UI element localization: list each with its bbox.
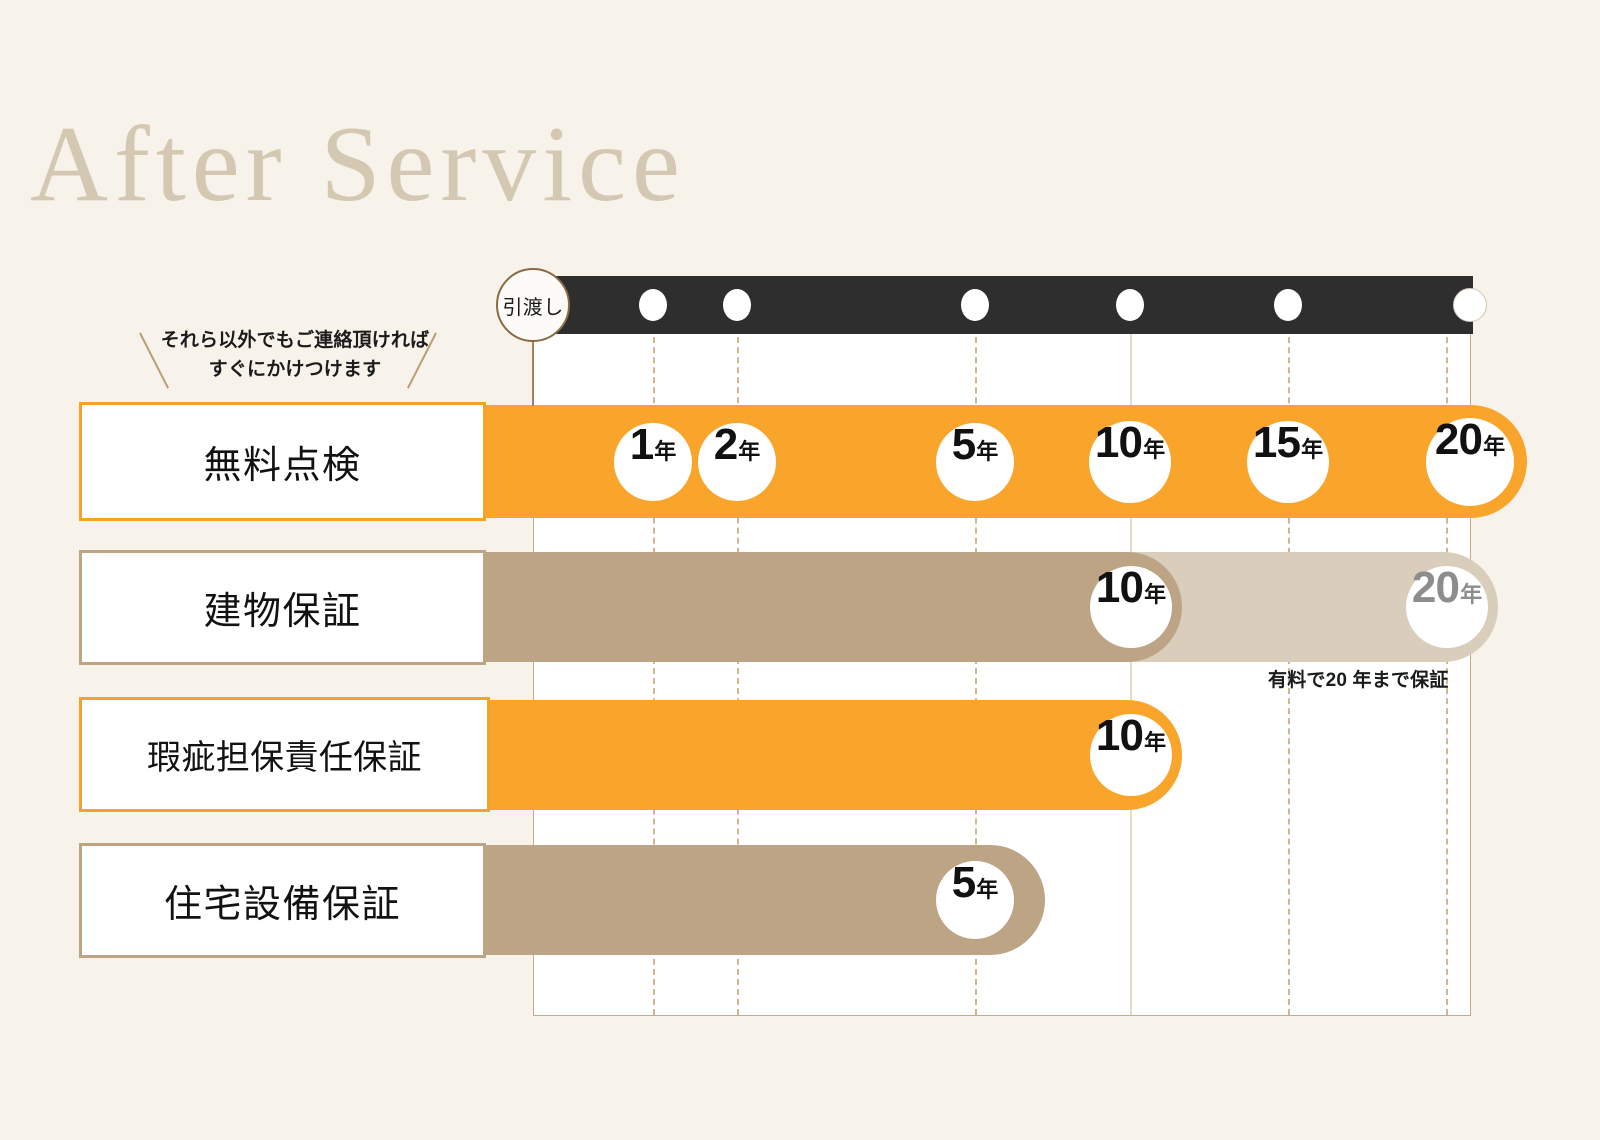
badge-15y: 15 年 [1247,421,1329,503]
badge-number: 20 [1412,566,1459,610]
badge-1y: 1 年 [614,423,692,501]
row-label-free-inspection: 無料点検 [79,402,486,521]
badge-number: 10 [1096,714,1143,758]
after-service-infographic: After Service 引渡し それら以外でもご連絡頂ければ すぐにかけつけ… [0,0,1600,1140]
row-label-text: 建物保証 [203,580,361,635]
timeline-dot-15y [1274,289,1302,321]
badge-number: 15 [1253,421,1300,465]
handover-marker: 引渡し [496,268,570,342]
badge-number: 5 [952,423,976,467]
badge-number: 10 [1095,421,1142,465]
timeline-dot-20y [1453,288,1487,322]
row-label-home-equipment: 住宅設備保証 [79,843,486,958]
badge-building-20y: 20 年 [1406,566,1488,648]
row-label-building-warranty: 建物保証 [79,550,486,665]
handover-stem [532,340,534,406]
badge-unit: 年 [976,879,998,901]
badge-equipment-5y: 5 年 [936,861,1014,939]
badge-unit: 年 [1301,439,1323,461]
badge-defect-10y: 10 年 [1090,714,1172,796]
badge-10y: 10 年 [1089,421,1171,503]
badge-20y: 20 年 [1426,418,1514,506]
timeline-dot-2y [723,289,751,321]
badge-number: 2 [714,423,738,467]
timeline-dot-1y [639,289,667,321]
badge-number: 1 [630,423,654,467]
timeline-bar [533,276,1473,334]
badge-unit: 年 [1144,584,1166,606]
badge-unit: 年 [654,441,676,463]
badge-building-10y: 10 年 [1090,566,1172,648]
timeline-dot-5y [961,289,989,321]
annotation-line-2: すぐにかけつけます [130,355,460,384]
badge-number: 5 [952,861,976,905]
row-label-text: 無料点検 [203,434,361,489]
badge-unit: 年 [976,441,998,463]
badge-unit: 年 [1460,584,1482,606]
badge-unit: 年 [1483,436,1505,458]
row-label-text: 住宅設備保証 [164,873,401,928]
row-label-text: 瑕疵担保責任保証 [147,730,422,779]
annotation-text: それら以外でもご連絡頂ければ すぐにかけつけます [130,326,460,385]
badge-unit: 年 [738,441,760,463]
badge-5y: 5 年 [936,423,1014,501]
annotation-line-1: それら以外でもご連絡頂ければ [130,326,460,355]
badge-number: 10 [1096,566,1143,610]
bar-building-warranty [430,552,1182,662]
timeline-dot-10y [1116,289,1144,321]
bar-defect-liability [430,700,1182,810]
badge-unit: 年 [1143,439,1165,461]
handover-label: 引渡し [502,291,563,320]
badge-number: 20 [1435,418,1482,462]
note-building-warranty: 有料で20 年まで保証 [1268,665,1449,692]
badge-2y: 2 年 [698,423,776,501]
badge-unit: 年 [1144,732,1166,754]
row-label-defect-liability: 瑕疵担保責任保証 [79,697,490,812]
page-title: After Service [30,108,686,221]
